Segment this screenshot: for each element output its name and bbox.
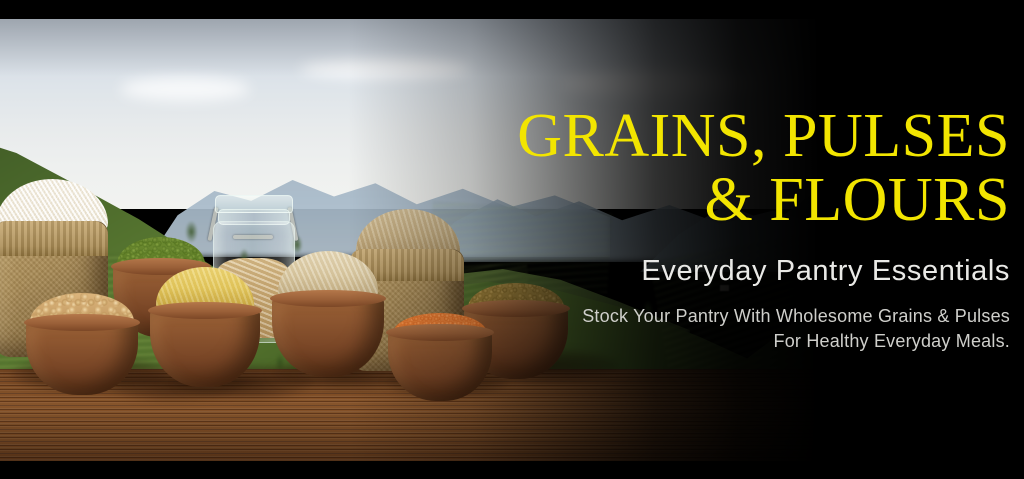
bowl-body	[150, 309, 260, 387]
headline-line-1: GRAINS, PULSES	[430, 104, 1010, 168]
banner-copy: GRAINS, PULSES & FLOURS Everyday Pantry …	[430, 104, 1010, 354]
bowl-body	[272, 297, 384, 377]
bowl-rim	[148, 302, 262, 319]
cloud	[120, 77, 250, 101]
cloud	[820, 55, 970, 77]
cloud	[560, 71, 760, 97]
bowl-body	[26, 321, 138, 395]
bowl-rim	[270, 290, 386, 307]
banner-subtitle: Everyday Pantry Essentials	[430, 254, 1010, 288]
wooden-bowl-wheat-flour	[272, 275, 384, 385]
bowl-rim	[24, 314, 140, 331]
promo-banner: GRAINS, PULSES & FLOURS Everyday Pantry …	[0, 0, 1024, 479]
letterbox-top-bar	[0, 0, 1024, 19]
letterbox-bottom-bar	[0, 461, 1024, 479]
wooden-bowl-gram-flour	[150, 289, 260, 393]
wooden-bowl-chickpeas	[26, 305, 138, 399]
headline-line-2: & FLOURS	[430, 168, 1010, 232]
banner-body-text: Stock Your Pantry With Wholesome Grains …	[580, 304, 1010, 354]
cloud	[300, 59, 470, 79]
sack-rim	[0, 221, 108, 256]
